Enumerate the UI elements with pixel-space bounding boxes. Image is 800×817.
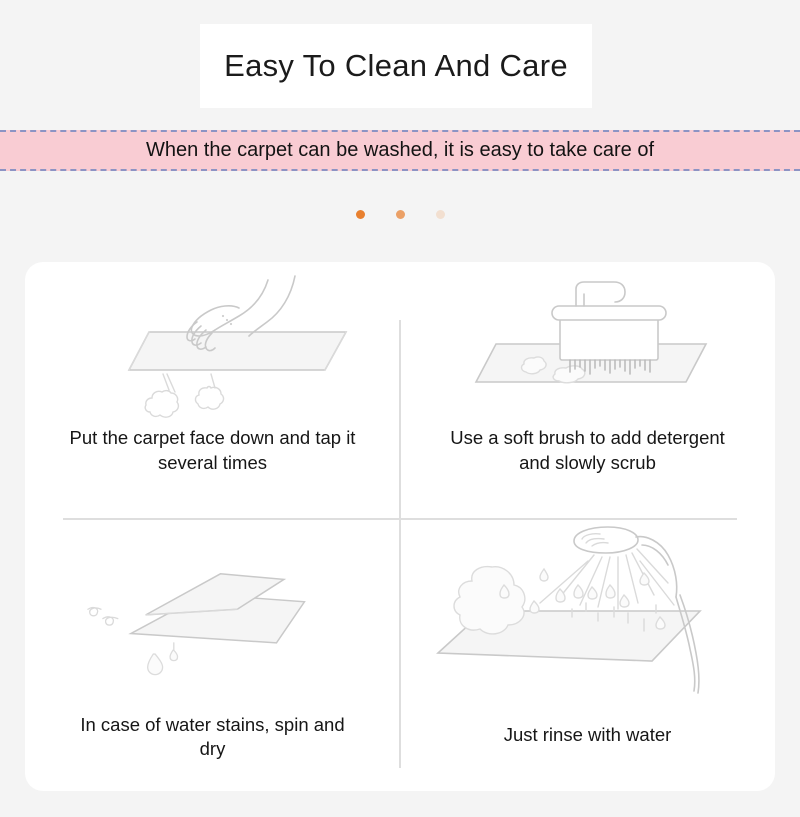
shower-head-rinsing-carpet-icon	[428, 513, 748, 713]
step-4-caption: Just rinse with water	[443, 723, 733, 748]
folded-carpet-dripping-water-icon	[63, 557, 363, 697]
carousel-dot-1[interactable]	[356, 210, 365, 219]
step-1: Put the carpet face down and tap it seve…	[25, 262, 400, 527]
carousel-dot-3[interactable]	[436, 210, 445, 219]
step-3-caption: In case of water stains, spin and dry	[68, 713, 358, 762]
step-3: In case of water stains, spin and dry	[25, 527, 400, 792]
horizontal-divider	[63, 518, 737, 520]
step-1-caption: Put the carpet face down and tap it seve…	[68, 426, 358, 475]
carousel-dot-2[interactable]	[396, 210, 405, 219]
carousel-dots	[0, 205, 800, 223]
vertical-divider	[399, 320, 401, 768]
hand-patting-carpet-icon	[63, 274, 363, 424]
page-title: Easy To Clean And Care	[224, 48, 568, 84]
subtitle-text: When the carpet can be washed, it is eas…	[146, 139, 654, 162]
subtitle-banner: When the carpet can be washed, it is eas…	[0, 130, 800, 171]
step-2: Use a soft brush to add detergent and sl…	[400, 262, 775, 527]
care-instructions-card: Put the carpet face down and tap it seve…	[25, 262, 775, 791]
step-2-caption: Use a soft brush to add detergent and sl…	[443, 426, 733, 475]
step-4: Just rinse with water	[400, 527, 775, 792]
scrub-brush-on-carpet-icon	[438, 274, 738, 424]
page-title-block: Easy To Clean And Care	[200, 24, 592, 108]
